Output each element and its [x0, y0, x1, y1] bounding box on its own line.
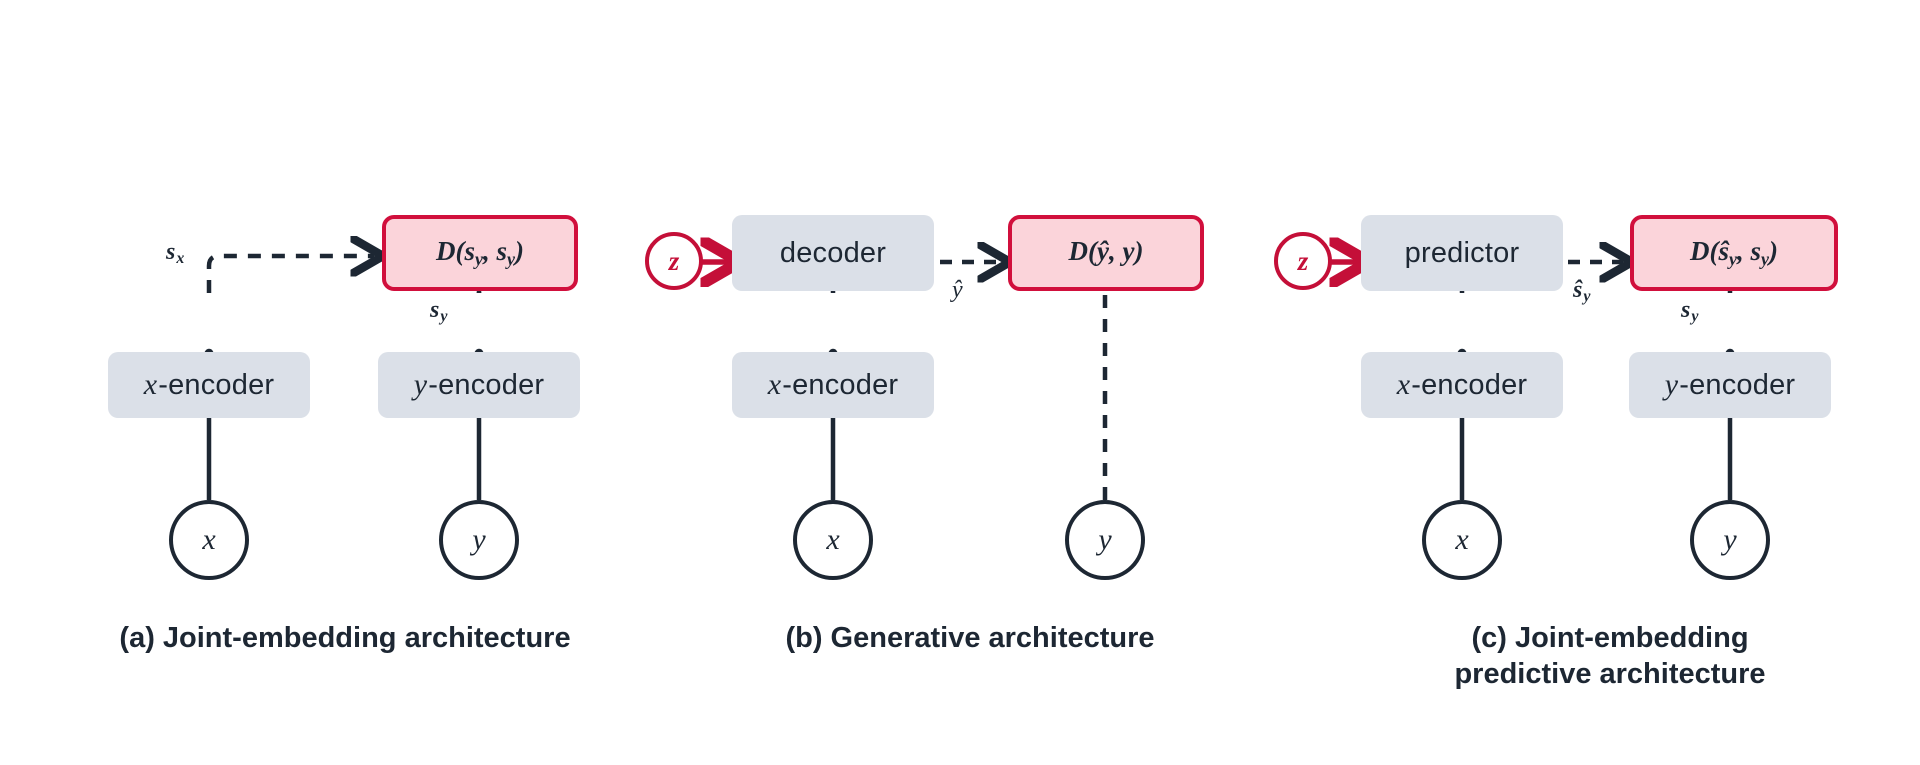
panel-c-energy-arg1: ŝ — [1718, 236, 1729, 266]
panel-c-x-encoder-label: -encoder — [1411, 371, 1527, 400]
panel-c-energy-label: D(ŝy, sy) — [1690, 238, 1778, 268]
panel-b-energy-label: D(ŷ, y) — [1069, 238, 1144, 268]
panel-a-edge-label-sx-base: s — [166, 239, 175, 265]
panel-c-energy-close: ) — [1769, 236, 1778, 266]
panel-a-energy-arg2: s — [497, 236, 508, 266]
panel-c-input-y-label: y — [1723, 525, 1736, 555]
panel-a-energy-label: D(sy, sy) — [436, 238, 524, 268]
panel-c-y-encoder-var: y — [1665, 370, 1680, 400]
panel-c-caption: (c) Joint-embedding predictive architect… — [1260, 620, 1920, 693]
panel-a-edge-label-sy-base: s — [430, 297, 439, 323]
panel-c-energy-fn: D( — [1690, 236, 1719, 266]
panel-a-energy-box[interactable]: D(sy, sy) — [382, 215, 578, 291]
panel-b-edge-label-yhat: ŷ — [952, 278, 963, 302]
panel-a-y-encoder-var: y — [414, 370, 429, 400]
panel-a-energy-fn: D( — [436, 236, 465, 266]
panel-b-energy-arg1: ŷ — [1097, 236, 1109, 266]
panel-c-edge-label-sy-base: s — [1681, 297, 1690, 323]
panel-b-input-x-label: x — [826, 525, 839, 555]
panel-b-decoder-label: decoder — [780, 239, 886, 268]
panel-b-caption: (b) Generative architecture — [660, 620, 1280, 656]
arrow-a-sx-to-energy — [209, 256, 374, 293]
panel-c-x-encoder[interactable]: x-encoder — [1361, 352, 1563, 418]
panel-b-x-encoder-var: x — [768, 370, 783, 400]
panel-b-energy-close: ) — [1134, 236, 1143, 266]
panel-c-energy-arg2: s — [1751, 236, 1762, 266]
panel-c-edge-label-sy-sub: y — [1690, 308, 1698, 325]
panel-b-latent-z-label: z — [669, 248, 680, 275]
panel-c-predictor-label: predictor — [1405, 239, 1520, 268]
panel-b-edge-label-yhat-base: ŷ — [952, 277, 963, 303]
panel-a-input-y-label: y — [472, 525, 485, 555]
panel-b-energy-sep: , — [1109, 236, 1123, 266]
panel-b-energy-arg2: y — [1123, 236, 1135, 266]
panel-a-edge-label-sy-sub: y — [439, 308, 447, 325]
panel-a-input-y[interactable]: y — [439, 500, 519, 580]
panel-b-x-encoder[interactable]: x-encoder — [732, 352, 934, 418]
panel-c-latent-z-label: z — [1298, 248, 1309, 275]
panel-c-input-y[interactable]: y — [1690, 500, 1770, 580]
panel-c-edge-label-sy: sy — [1681, 298, 1698, 325]
panel-b-input-y[interactable]: y — [1065, 500, 1145, 580]
panel-b-input-x[interactable]: x — [793, 500, 873, 580]
panel-c-input-x[interactable]: x — [1422, 500, 1502, 580]
panel-b-input-y-label: y — [1098, 525, 1111, 555]
panel-a-edge-label-sx-sub: x — [175, 250, 184, 267]
panel-a-x-encoder-var: x — [144, 370, 159, 400]
panel-a-caption: (a) Joint-embedding architecture — [40, 620, 650, 656]
panel-c-energy-sep: , — [1737, 236, 1751, 266]
panel-b-decoder[interactable]: decoder — [732, 215, 934, 291]
panel-a-x-encoder-label: -encoder — [158, 371, 274, 400]
panel-c-energy-arg2-sub: y — [1761, 249, 1769, 269]
panel-a-energy-close: ) — [515, 236, 524, 266]
panel-c-edge-label-shaty-base: ŝ — [1573, 277, 1582, 303]
panel-a-energy-sep: , — [483, 236, 497, 266]
panel-c-edge-label-shaty: ŝy — [1573, 278, 1590, 305]
panel-a-energy-arg2-sub: y — [507, 249, 515, 269]
panel-b-energy-fn: D( — [1069, 236, 1098, 266]
panel-b-x-encoder-label: -encoder — [782, 371, 898, 400]
panel-a-x-encoder[interactable]: x-encoder — [108, 352, 310, 418]
panel-a-energy-arg1-sub: y — [475, 249, 483, 269]
panel-b-latent-z[interactable]: z — [645, 232, 703, 290]
panel-b-energy-box[interactable]: D(ŷ, y) — [1008, 215, 1204, 291]
panel-c-energy-arg1-sub: y — [1729, 249, 1737, 269]
panel-c-energy-box[interactable]: D(ŝy, sy) — [1630, 215, 1838, 291]
panel-a-input-x-label: x — [202, 525, 215, 555]
panel-a-energy-arg1: s — [464, 236, 475, 266]
panel-a-edge-label-sx: sx — [166, 240, 184, 267]
panel-a-y-encoder[interactable]: y-encoder — [378, 352, 580, 418]
panel-a-input-x[interactable]: x — [169, 500, 249, 580]
panel-c-y-encoder[interactable]: y-encoder — [1629, 352, 1831, 418]
panel-a-edge-label-sy: sy — [430, 298, 447, 325]
panel-c-input-x-label: x — [1455, 525, 1468, 555]
panel-a-y-encoder-label: -encoder — [428, 371, 544, 400]
panel-c-predictor[interactable]: predictor — [1361, 215, 1563, 291]
panel-c-x-encoder-var: x — [1397, 370, 1412, 400]
panel-c-latent-z[interactable]: z — [1274, 232, 1332, 290]
figure-canvas: x y x-encoder y-encoder D(sy, sy) sx sy … — [0, 0, 1920, 765]
panel-c-edge-label-shaty-sub: y — [1582, 288, 1590, 305]
panel-c-y-encoder-label: -encoder — [1679, 371, 1795, 400]
